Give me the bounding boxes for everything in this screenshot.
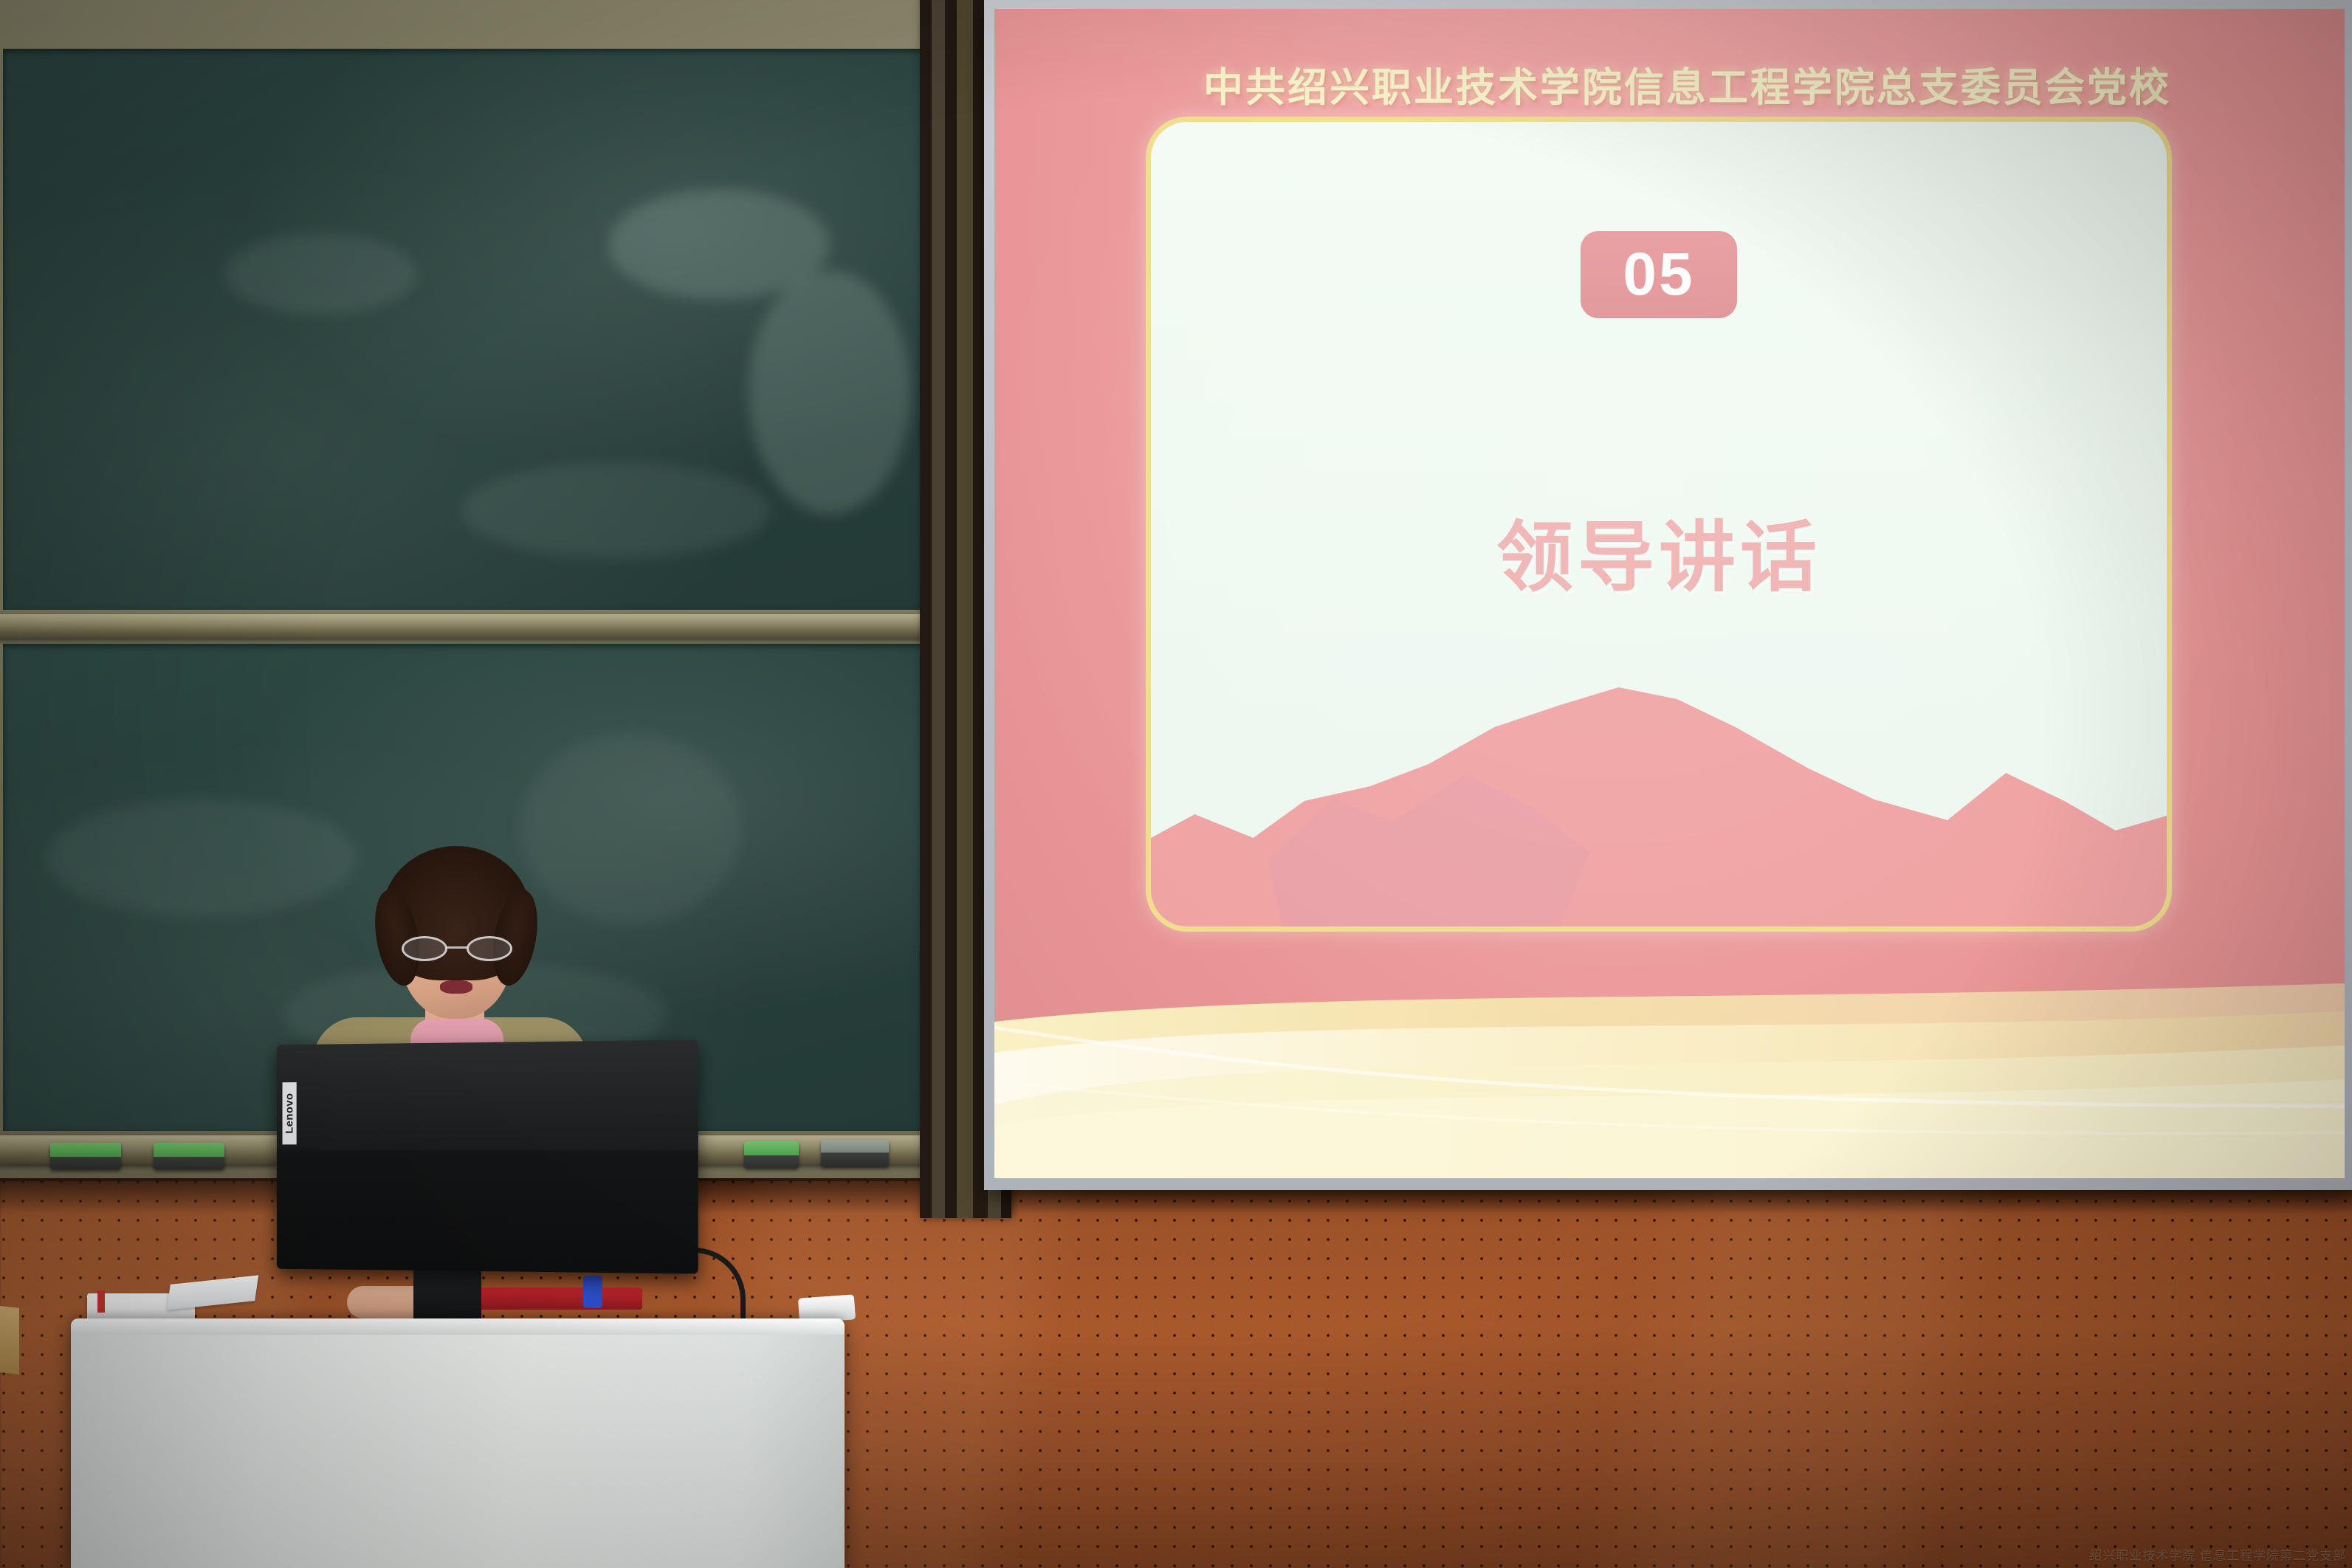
lecture-hall-scene: 中共绍兴职业技术学院信息工程学院总支委员会党校 05 领导讲话 bbox=[0, 0, 2352, 1568]
eyeglasses-icon bbox=[402, 936, 512, 961]
chalkboard-panel-upper bbox=[3, 49, 936, 610]
watermark: 绍兴职业技术学院 信息工程学院第二党支部 bbox=[2089, 1545, 2346, 1564]
red-folder bbox=[472, 1287, 642, 1310]
podium-wood-edge bbox=[0, 1299, 19, 1375]
chalkboard-eraser[interactable] bbox=[821, 1140, 889, 1166]
mountain-silhouette bbox=[1151, 616, 2167, 926]
section-heading: 领导讲话 bbox=[1151, 495, 2167, 606]
section-number-badge: 05 bbox=[1581, 231, 1737, 318]
gold-ribbon-waves bbox=[994, 935, 2345, 1178]
lenovo-logo: Lenovo bbox=[283, 1082, 297, 1144]
projection-screen: 中共绍兴职业技术学院信息工程学院总支委员会党校 05 领导讲话 bbox=[984, 0, 2352, 1190]
projected-slide: 中共绍兴职业技术学院信息工程学院总支委员会党校 05 领导讲话 bbox=[994, 9, 2345, 1178]
presenter-mouth bbox=[440, 980, 472, 994]
slide-content-card: 05 领导讲话 bbox=[1146, 117, 2172, 932]
slide-title: 中共绍兴职业技术学院信息工程学院总支委员会党校 bbox=[994, 55, 2345, 113]
blue-clip bbox=[583, 1276, 602, 1308]
lectern-top-edge bbox=[71, 1318, 845, 1335]
lectern bbox=[71, 1318, 845, 1568]
chalk-tray-upper bbox=[0, 614, 946, 639]
chalkboard-eraser[interactable] bbox=[744, 1141, 799, 1168]
chalkboard-eraser[interactable] bbox=[154, 1143, 224, 1169]
presenter-monitor[interactable]: Lenovo bbox=[277, 1039, 698, 1273]
chalkboard-eraser[interactable] bbox=[50, 1143, 121, 1169]
